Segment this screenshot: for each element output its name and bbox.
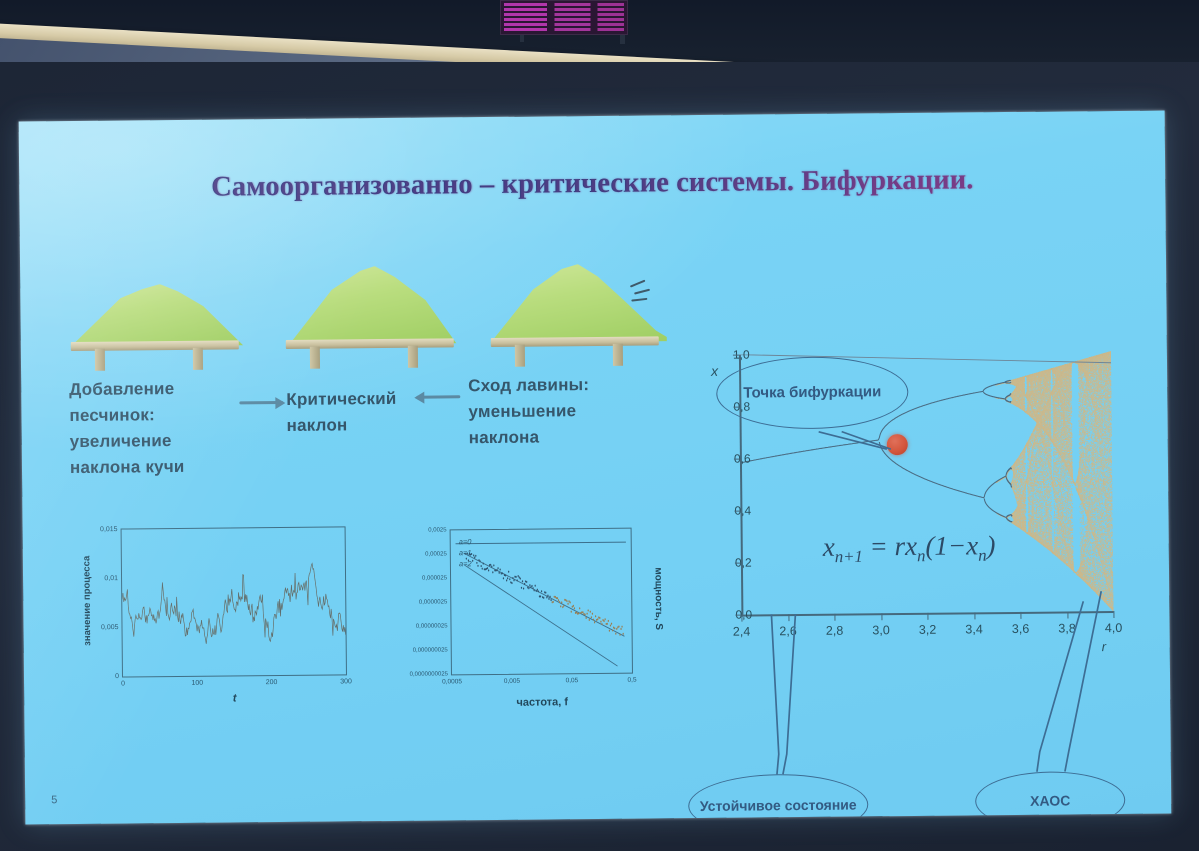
xtick: 0,05 xyxy=(566,677,579,684)
projected-slide: Самоорганизованно – критические системы.… xyxy=(19,111,1172,825)
ytick: 0,01 xyxy=(104,575,118,582)
ytick: 0,00025 xyxy=(425,551,447,557)
bifurcation-ylabel: x xyxy=(711,363,718,379)
xtick: 300 xyxy=(340,678,352,685)
xtick: 0,5 xyxy=(627,677,636,684)
chart-power-spectrum: 0,0025 0,00025 0,000025 0,0000025 0,0000… xyxy=(377,513,669,716)
photo-scene: Самоорганизованно – критические системы.… xyxy=(0,0,1199,851)
arrow-right-icon xyxy=(239,395,283,409)
time-series-plot: 0,015 0,01 0,005 0 0 100 200 300 xyxy=(121,526,347,677)
xtick: 0,005 xyxy=(504,678,520,685)
avalanche-motion-icon xyxy=(630,283,658,305)
xtick: 0,0005 xyxy=(442,678,462,685)
bifurcation-y-ticks: 0,00,20,40,60,81,0 xyxy=(681,339,1141,343)
ytick: 0,000000025 xyxy=(413,647,448,653)
arrow-left-icon xyxy=(416,389,460,403)
legend-item-a1: a=1 xyxy=(459,547,472,558)
xtick: 2,8 xyxy=(826,624,844,638)
background-led-display xyxy=(500,0,628,35)
xtick: 3,2 xyxy=(919,623,937,637)
time-series-svg xyxy=(122,527,346,676)
xtick: 0 xyxy=(121,681,125,688)
xtick: 3,6 xyxy=(1012,622,1030,636)
ytick: 0,0000000025 xyxy=(410,671,448,677)
slide-number: 5 xyxy=(51,794,57,806)
ytick: 0,000025 xyxy=(422,575,447,581)
xtick: 100 xyxy=(191,680,203,687)
sandpile-critical xyxy=(281,267,462,369)
sand-mound-icon xyxy=(281,265,462,345)
spectrum-svg xyxy=(451,529,632,675)
bifurcation-xlabel: r xyxy=(1102,639,1106,654)
spectrum-plot: 0,0025 0,00025 0,000025 0,0000025 0,0000… xyxy=(450,528,633,676)
sand-mound-icon xyxy=(66,283,247,347)
sandpile-illustration-group xyxy=(66,265,677,371)
ytick: 0,0000025 xyxy=(419,599,447,605)
xtick: 2,4 xyxy=(733,625,751,639)
ytick: 0,015 xyxy=(100,526,118,533)
ytick: 0,0025 xyxy=(428,527,446,533)
label-adding-grains: Добавление песчинок: увеличение наклона … xyxy=(69,376,230,482)
sandpile-growing xyxy=(66,269,247,371)
table-leg xyxy=(408,346,418,368)
sandpile-avalanche xyxy=(486,265,667,367)
table-leg xyxy=(95,349,105,371)
xtick: 3,0 xyxy=(872,623,890,637)
ytick: 0 xyxy=(115,673,119,680)
time-series-xlabel: t xyxy=(122,691,347,705)
table-leg xyxy=(310,347,320,369)
xtick: 200 xyxy=(266,679,278,686)
bifurcation-x-ticks: 2,42,62,83,03,23,43,63,84,0 xyxy=(681,339,1141,343)
table-leg xyxy=(193,348,203,370)
legend-item-a0: a=0 xyxy=(459,536,472,547)
table-leg xyxy=(613,344,623,366)
label-avalanche: Сход лавины: уменьшение наклона xyxy=(468,372,629,452)
legend-item-a2: a=2 xyxy=(459,558,472,569)
spectrum-ylabel: мощность, S xyxy=(650,533,667,663)
ytick: 0,00000025 xyxy=(416,623,448,629)
spectrum-xlabel: частота, f xyxy=(451,696,633,710)
xtick: 3,4 xyxy=(965,622,983,636)
bifurcation-point-marker xyxy=(887,434,908,455)
time-series-ylabel: значение процесса xyxy=(78,521,96,681)
xtick: 4,0 xyxy=(1105,621,1123,635)
xtick: 2,6 xyxy=(779,624,797,638)
logistic-map-equation: xn+1 = rxn(1−xn) xyxy=(823,530,996,567)
page-title: Самоорганизованно – критические системы.… xyxy=(19,163,1165,206)
table-leg xyxy=(515,345,525,367)
ytick: 0,005 xyxy=(101,624,119,631)
xtick: 3,8 xyxy=(1058,621,1076,635)
spectrum-legend: a=0 a=1 a=2 xyxy=(459,536,472,569)
chart-time-series: значение процесса 0,015 0,01 0,005 0 0 1… xyxy=(82,518,349,716)
label-critical-slope: Критический наклон xyxy=(286,386,426,439)
